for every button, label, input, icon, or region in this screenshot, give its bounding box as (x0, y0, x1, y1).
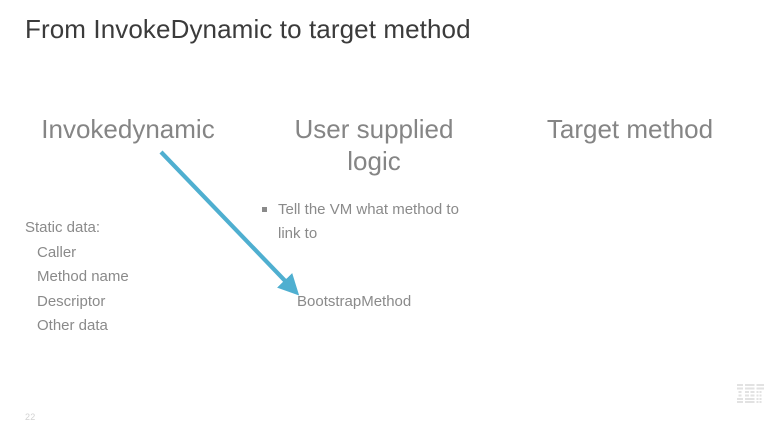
page-title: From InvokeDynamic to target method (25, 12, 471, 46)
column-heading-user-supplied-logic: User supplied logic (265, 113, 483, 177)
static-data-item-other-data: Other data (25, 314, 129, 339)
slide-canvas: From InvokeDynamic to target method Invo… (0, 0, 779, 434)
static-data-item-descriptor: Descriptor (25, 290, 129, 315)
static-data-block: Static data: Caller Method name Descript… (25, 216, 129, 339)
square-bullet-icon (262, 207, 267, 212)
column-heading-line-1: User supplied (265, 113, 483, 145)
bootstrap-method-label: BootstrapMethod (297, 292, 411, 312)
static-data-title: Static data: (25, 216, 129, 241)
bullet-list: Tell the VM what method to link to (262, 198, 472, 246)
page-number: 22 (25, 411, 36, 423)
column-heading-target-method: Target method (505, 113, 755, 145)
ibm-logo-icon (737, 384, 764, 403)
list-item: Tell the VM what method to link to (262, 198, 472, 246)
static-data-item-caller: Caller (25, 241, 129, 266)
column-heading-invokedynamic: Invokedynamic (8, 113, 248, 145)
column-heading-line-2: logic (265, 145, 483, 177)
bullet-text: Tell the VM what method to link to (278, 201, 459, 242)
static-data-item-method-name: Method name (25, 265, 129, 290)
